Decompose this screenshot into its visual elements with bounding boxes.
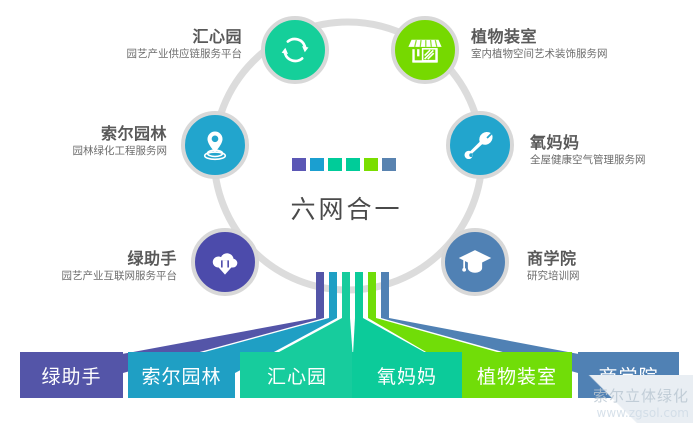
watermark-brand: 索尔立体绿化 bbox=[593, 387, 689, 406]
watermark: 索尔立体绿化 www.zgsol.com bbox=[593, 387, 689, 421]
infographic-canvas: 汇心园园艺产业供应链服务平台植物装室室内植物空间艺术装饰服务网氧妈妈全屋健康空气… bbox=[0, 0, 693, 423]
banner-chip-0[interactable]: 绿助手 bbox=[20, 352, 123, 398]
banner-chip-label: 绿助手 bbox=[41, 362, 101, 389]
banner-chip-label: 氧妈妈 bbox=[377, 362, 437, 389]
banner-chip-group: 绿助手索尔园林汇心园氧妈妈植物装室商学院 bbox=[0, 0, 693, 423]
watermark-url: www.zgsol.com bbox=[593, 406, 689, 421]
banner-chip-label: 汇心园 bbox=[267, 362, 327, 389]
banner-chip-4[interactable]: 植物装室 bbox=[462, 352, 572, 398]
banner-chip-label: 植物装室 bbox=[477, 362, 557, 389]
banner-chip-1[interactable]: 索尔园林 bbox=[128, 352, 235, 398]
banner-chip-2[interactable]: 汇心园 bbox=[240, 352, 354, 398]
banner-chip-label: 索尔园林 bbox=[141, 362, 221, 389]
banner-chip-3[interactable]: 氧妈妈 bbox=[352, 352, 462, 398]
